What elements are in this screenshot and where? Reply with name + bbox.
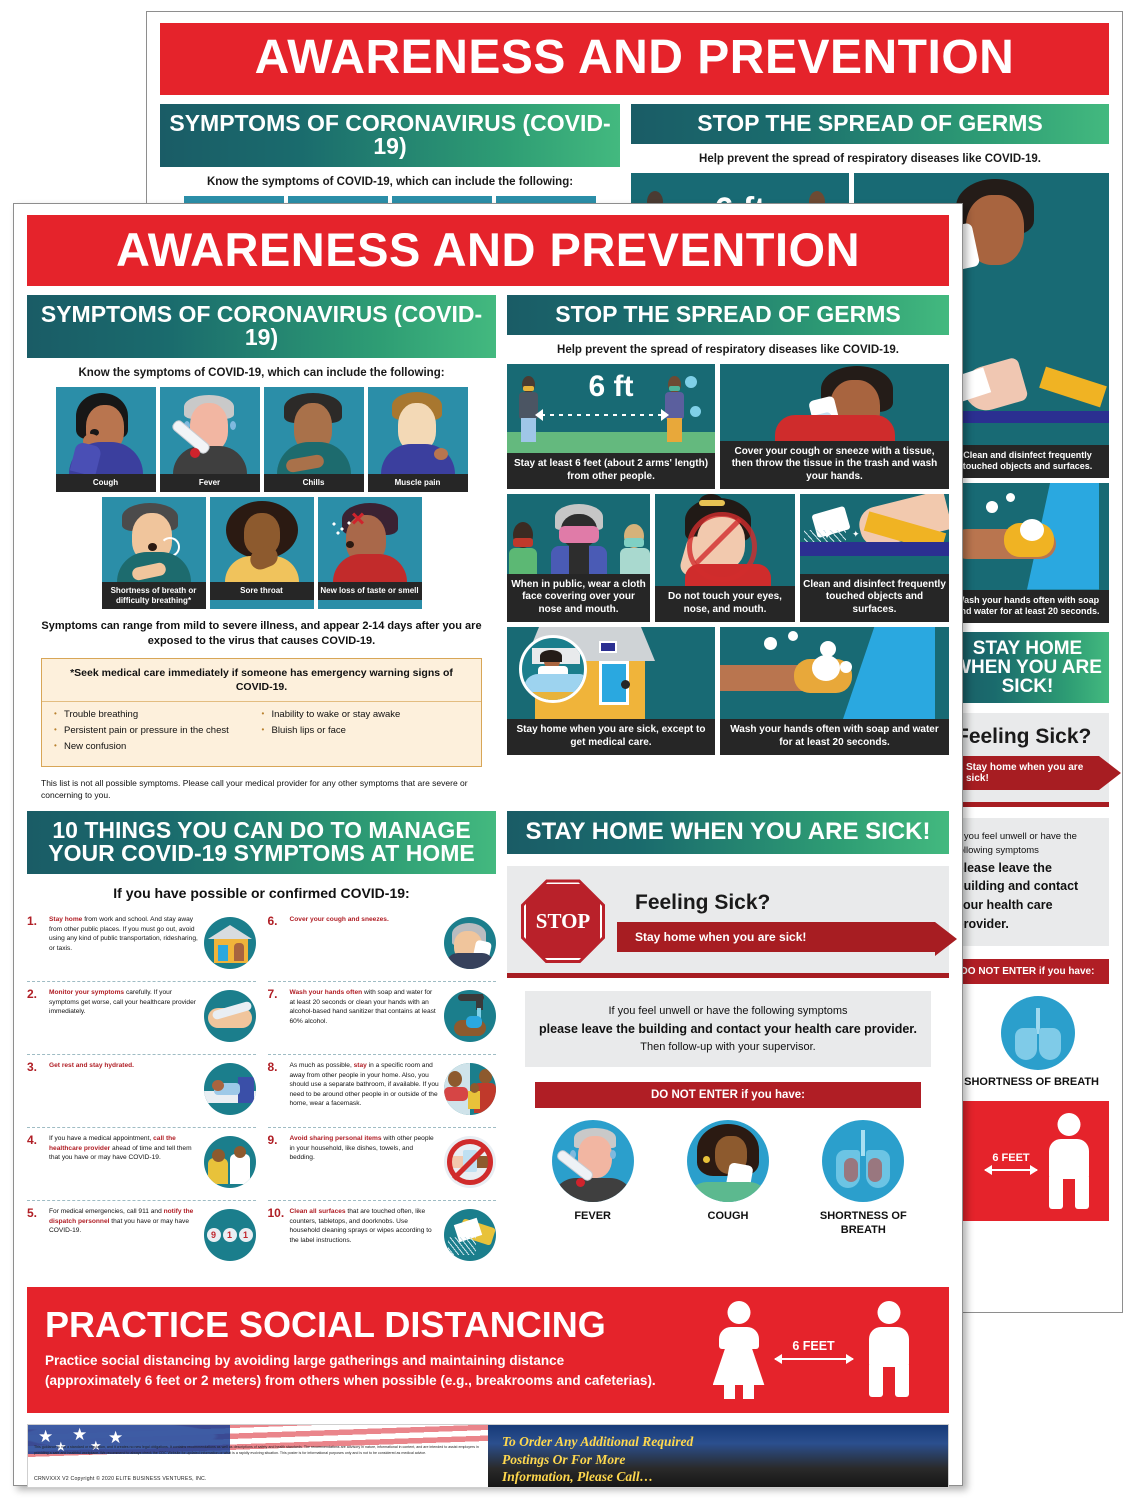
symptom-label: Fever bbox=[160, 474, 260, 492]
germ-card-no-face-touch: Do not touch your eyes, nose, and mouth. bbox=[655, 494, 795, 622]
germs-section: STOP THE SPREAD OF GERMS Help prevent th… bbox=[507, 295, 949, 801]
germ-caption: Stay home when you are sick, except to g… bbox=[507, 719, 715, 755]
warning-item: New confusion bbox=[54, 741, 262, 754]
item-number: 7. bbox=[268, 988, 285, 1050]
ten-things-section: 10 THINGS YOU CAN DO TO MANAGE YOUR COVI… bbox=[27, 811, 496, 1273]
symptom-tile-fever: Fever bbox=[160, 387, 260, 492]
footer-copyright: CRNVXXX V2 Copyright © 2020 ELITE BUSINE… bbox=[34, 1476, 207, 1482]
stay-home-arrow-banner: Stay home when you are sick! bbox=[617, 922, 935, 952]
symptoms-header: SYMPTOMS OF CORONAVIRUS (COVID-19) bbox=[27, 295, 496, 358]
item-number: 1. bbox=[27, 915, 44, 977]
ten-things-header: 10 THINGS YOU CAN DO TO MANAGE YOUR COVI… bbox=[27, 811, 496, 874]
germ-caption: Wash your hands often with soap and wate… bbox=[720, 719, 949, 755]
item-pre: If you have a medical appointment, bbox=[49, 1135, 153, 1142]
symptom-label: New loss of taste or smell bbox=[318, 582, 422, 600]
symptoms-intro-back: Know the symptoms of COVID-19, which can… bbox=[160, 176, 620, 188]
person-in-bed-icon bbox=[204, 1063, 256, 1115]
ten-item-7: 7. Wash your hands often with soap and w… bbox=[268, 981, 497, 1054]
germ-caption: Do not touch your eyes, nose, and mouth. bbox=[655, 586, 795, 622]
ten-item-4: 4. If you have a medical appointment, ca… bbox=[27, 1127, 256, 1200]
germ-caption: Cover your cough or sneeze with a tissue… bbox=[720, 441, 949, 490]
item-bold: Get rest and stay hydrated. bbox=[49, 1062, 134, 1069]
emergency-warning-box: *Seek medical care immediately if someon… bbox=[41, 658, 482, 767]
germ-card-face-covering: When in public, wear a cloth face coveri… bbox=[507, 494, 650, 622]
poster-title-back: AWARENESS AND PREVENTION bbox=[160, 23, 1109, 95]
warning-list-right: Inability to wake or stay awake Bluish l… bbox=[262, 709, 470, 756]
feeling-sick-title: Feeling Sick? bbox=[635, 891, 935, 915]
ten-item-8: 8. As much as possible, stay in a specif… bbox=[268, 1054, 497, 1127]
order-info-panel[interactable]: To Order Any Additional Required Posting… bbox=[488, 1425, 948, 1487]
ten-things-col-right: 6. Cover your cough and sneezes. 7. bbox=[268, 909, 497, 1273]
item-number: 10. bbox=[268, 1207, 285, 1269]
distance-label: 6 FEET bbox=[771, 1339, 857, 1353]
order-line-1: To Order Any Additional Required bbox=[502, 1433, 948, 1450]
footer-disclaimer: This guidance is not a standard or regul… bbox=[34, 1445, 480, 1456]
item-pre: For medical emergencies, call 911 and bbox=[49, 1208, 164, 1215]
social-distancing-line2: (approximately 6 feet or 2 meters) from … bbox=[45, 1371, 696, 1391]
symptoms-section: SYMPTOMS OF CORONAVIRUS (COVID-19) Know … bbox=[27, 295, 496, 801]
germ-card-distance: 6 ft Stay at least 6 feet (about 2 arms'… bbox=[507, 364, 715, 489]
stop-panel: STOP Feeling Sick? Stay home when you ar… bbox=[507, 866, 949, 978]
warning-item: Inability to wake or stay awake bbox=[262, 709, 470, 722]
warning-title: *Seek medical care immediately if someon… bbox=[42, 659, 481, 702]
dne-item-fever: FEVER bbox=[538, 1120, 648, 1238]
gray-line1: If you feel unwell or have the following… bbox=[608, 1005, 847, 1017]
foreground-poster: AWARENESS AND PREVENTION SYMPTOMS OF COR… bbox=[13, 203, 963, 1486]
order-line-3: Information, Please Call… bbox=[502, 1468, 948, 1485]
item-bold: stay bbox=[354, 1062, 367, 1069]
ten-item-9: 9. Avoid sharing personal items with oth… bbox=[268, 1127, 497, 1200]
germ-card-wash-hands: Wash your hands often with soap and wate… bbox=[720, 627, 949, 755]
gray-line2: please leave the building and contact yo… bbox=[539, 1022, 917, 1036]
social-distancing-banner: PRACTICE SOCIAL DISTANCING Practice soci… bbox=[27, 1287, 949, 1413]
symptom-tile-muscle-pain: Muscle pain bbox=[368, 387, 468, 492]
order-line-2: Postings Or For More bbox=[502, 1451, 948, 1468]
item-number: 2. bbox=[27, 988, 44, 1050]
footer-flag-panel: ★ ★ ★ ★ ★ This guidance is not a standar… bbox=[28, 1425, 488, 1487]
phone-doctor-icon bbox=[204, 1136, 256, 1188]
distance-indicator: 6 FEET bbox=[771, 1339, 857, 1360]
germs-row-1: 6 ft Stay at least 6 feet (about 2 arms'… bbox=[507, 364, 949, 489]
item-number: 4. bbox=[27, 1134, 44, 1196]
lungs-icon bbox=[822, 1120, 904, 1202]
ten-item-10: 10. Clean all surfaces that are touched … bbox=[268, 1200, 497, 1273]
germ-card-disinfect: ✦ ✦ Clean and disinfect frequently touch… bbox=[800, 494, 949, 622]
warning-item: Persistent pain or pressure in the chest bbox=[54, 725, 262, 738]
wipe-surface-icon bbox=[444, 1209, 496, 1261]
gray-line3: Then follow-up with your supervisor. bbox=[640, 1041, 815, 1053]
female-figure-icon bbox=[711, 1301, 767, 1397]
item-pre: As much as possible, bbox=[290, 1062, 354, 1069]
ten-things-subtitle: If you have possible or confirmed COVID-… bbox=[27, 885, 496, 901]
social-distancing-title: PRACTICE SOCIAL DISTANCING bbox=[45, 1307, 696, 1343]
isolate-room-icon bbox=[444, 1063, 496, 1115]
germs-intro: Help prevent the spread of respiratory d… bbox=[507, 344, 949, 356]
911-icon: 9 1 1 bbox=[204, 1209, 256, 1261]
germs-intro-back: Help prevent the spread of respiratory d… bbox=[631, 153, 1109, 165]
stop-sign-icon: STOP bbox=[521, 879, 605, 963]
male-figure-icon bbox=[861, 1301, 917, 1397]
symptom-tile-loss-of-taste-smell: New loss of taste or smell bbox=[318, 497, 422, 610]
item-bold: Avoid sharing personal items bbox=[290, 1135, 382, 1142]
dne-label: FEVER bbox=[538, 1210, 648, 1224]
germs-row-2: When in public, wear a cloth face coveri… bbox=[507, 494, 949, 622]
item-number: 8. bbox=[268, 1061, 285, 1123]
house-icon bbox=[204, 917, 256, 969]
symptom-label: Muscle pain bbox=[368, 474, 468, 492]
no-sharing-icon bbox=[444, 1136, 496, 1188]
warning-list-left: Trouble breathing Persistent pain or pre… bbox=[54, 709, 262, 756]
germ-caption: Clean and disinfect frequently touched o… bbox=[800, 574, 949, 623]
germs-header-back: STOP THE SPREAD OF GERMS bbox=[631, 104, 1109, 144]
poster-footer: ★ ★ ★ ★ ★ This guidance is not a standar… bbox=[27, 1424, 949, 1488]
item-bold: Stay home bbox=[49, 916, 82, 923]
germ-card-stay-home: Stay home when you are sick, except to g… bbox=[507, 627, 715, 755]
ten-item-2: 2. Monitor your symptoms carefully. If y… bbox=[27, 981, 256, 1054]
symptom-tile-sore-throat: Sore throat bbox=[210, 497, 314, 610]
item-bold: Monitor your symptoms bbox=[49, 989, 124, 996]
ten-item-6: 6. Cover your cough and sneezes. bbox=[268, 909, 497, 981]
item-bold: Cover your cough and sneezes. bbox=[290, 916, 389, 923]
item-number: 6. bbox=[268, 915, 285, 977]
thermometer-hand-icon bbox=[204, 990, 256, 1042]
stay-home-section: STAY HOME WHEN YOU ARE SICK! STOP Feelin… bbox=[507, 811, 949, 1273]
item-number: 5. bbox=[27, 1207, 44, 1269]
symptom-range-note: Symptoms can range from mild to severe i… bbox=[35, 619, 488, 649]
item-bold: Clean all surfaces bbox=[290, 1208, 346, 1215]
item-number: 9. bbox=[268, 1134, 285, 1196]
symptom-tiles-row-1: Cough Fever bbox=[27, 387, 496, 492]
warning-item: Bluish lips or face bbox=[262, 725, 470, 738]
ten-things-col-left: 1. Stay home from work and school. And s… bbox=[27, 909, 256, 1273]
faucet-wash-icon bbox=[444, 990, 496, 1042]
dne-label: SHORTNESS OF BREATH bbox=[808, 1210, 918, 1238]
germs-header: STOP THE SPREAD OF GERMS bbox=[507, 295, 949, 335]
germs-row-3: Stay home when you are sick, except to g… bbox=[507, 627, 949, 755]
germ-card-cover-cough: Cover your cough or sneeze with a tissue… bbox=[720, 364, 949, 489]
symptom-label: Cough bbox=[56, 474, 156, 492]
germ-caption: Stay at least 6 feet (about 2 arms' leng… bbox=[507, 453, 715, 489]
do-not-enter-symptoms: FEVER COUGH bbox=[507, 1120, 949, 1238]
symptom-label: Chills bbox=[264, 474, 364, 492]
dne-item-cough: COUGH bbox=[673, 1120, 783, 1238]
dne-label: COUGH bbox=[673, 1210, 783, 1224]
dne-item-shortness-of-breath: SHORTNESS OF BREATH bbox=[808, 1120, 918, 1238]
symptom-tile-shortness-of-breath: Shortness of breath or difficulty breath… bbox=[102, 497, 206, 610]
item-number: 3. bbox=[27, 1061, 44, 1123]
symptom-tile-cough: Cough bbox=[56, 387, 156, 492]
fever-thermometer-icon bbox=[552, 1120, 634, 1202]
symptom-tiles-row-2: Shortness of breath or difficulty breath… bbox=[27, 497, 496, 610]
ten-item-3: 3. Get rest and stay hydrated. bbox=[27, 1054, 256, 1127]
poster-title: AWARENESS AND PREVENTION bbox=[27, 215, 949, 286]
symptom-tile-chills: Chills bbox=[264, 387, 364, 492]
germ-caption: When in public, wear a cloth face coveri… bbox=[507, 574, 650, 623]
do-not-enter-banner: DO NOT ENTER if you have: bbox=[535, 1082, 921, 1108]
symptoms-footnote: This list is not all possible symptoms. … bbox=[41, 778, 482, 802]
social-distancing-line1: Practice social distancing by avoiding l… bbox=[45, 1351, 696, 1371]
ten-item-5: 5. For medical emergencies, call 911 and… bbox=[27, 1200, 256, 1273]
cough-person-icon bbox=[687, 1120, 769, 1202]
item-bold: Wash your hands often bbox=[290, 989, 363, 996]
symptom-label: Sore throat bbox=[210, 582, 314, 600]
stop-sign-text: STOP bbox=[524, 882, 602, 960]
stay-home-header: STAY HOME WHEN YOU ARE SICK! bbox=[507, 811, 949, 854]
symptoms-intro: Know the symptoms of COVID-19, which can… bbox=[27, 367, 496, 379]
unwell-instructions: If you feel unwell or have the following… bbox=[525, 991, 931, 1067]
symptom-label: Shortness of breath or difficulty breath… bbox=[102, 582, 206, 610]
ten-item-1: 1. Stay home from work and school. And s… bbox=[27, 909, 256, 981]
six-feet-badge: 6 ft bbox=[589, 372, 634, 402]
symptoms-header-back: SYMPTOMS OF CORONAVIRUS (COVID-19) bbox=[160, 104, 620, 167]
cough-tissue-icon bbox=[444, 917, 496, 969]
warning-item: Trouble breathing bbox=[54, 709, 262, 722]
